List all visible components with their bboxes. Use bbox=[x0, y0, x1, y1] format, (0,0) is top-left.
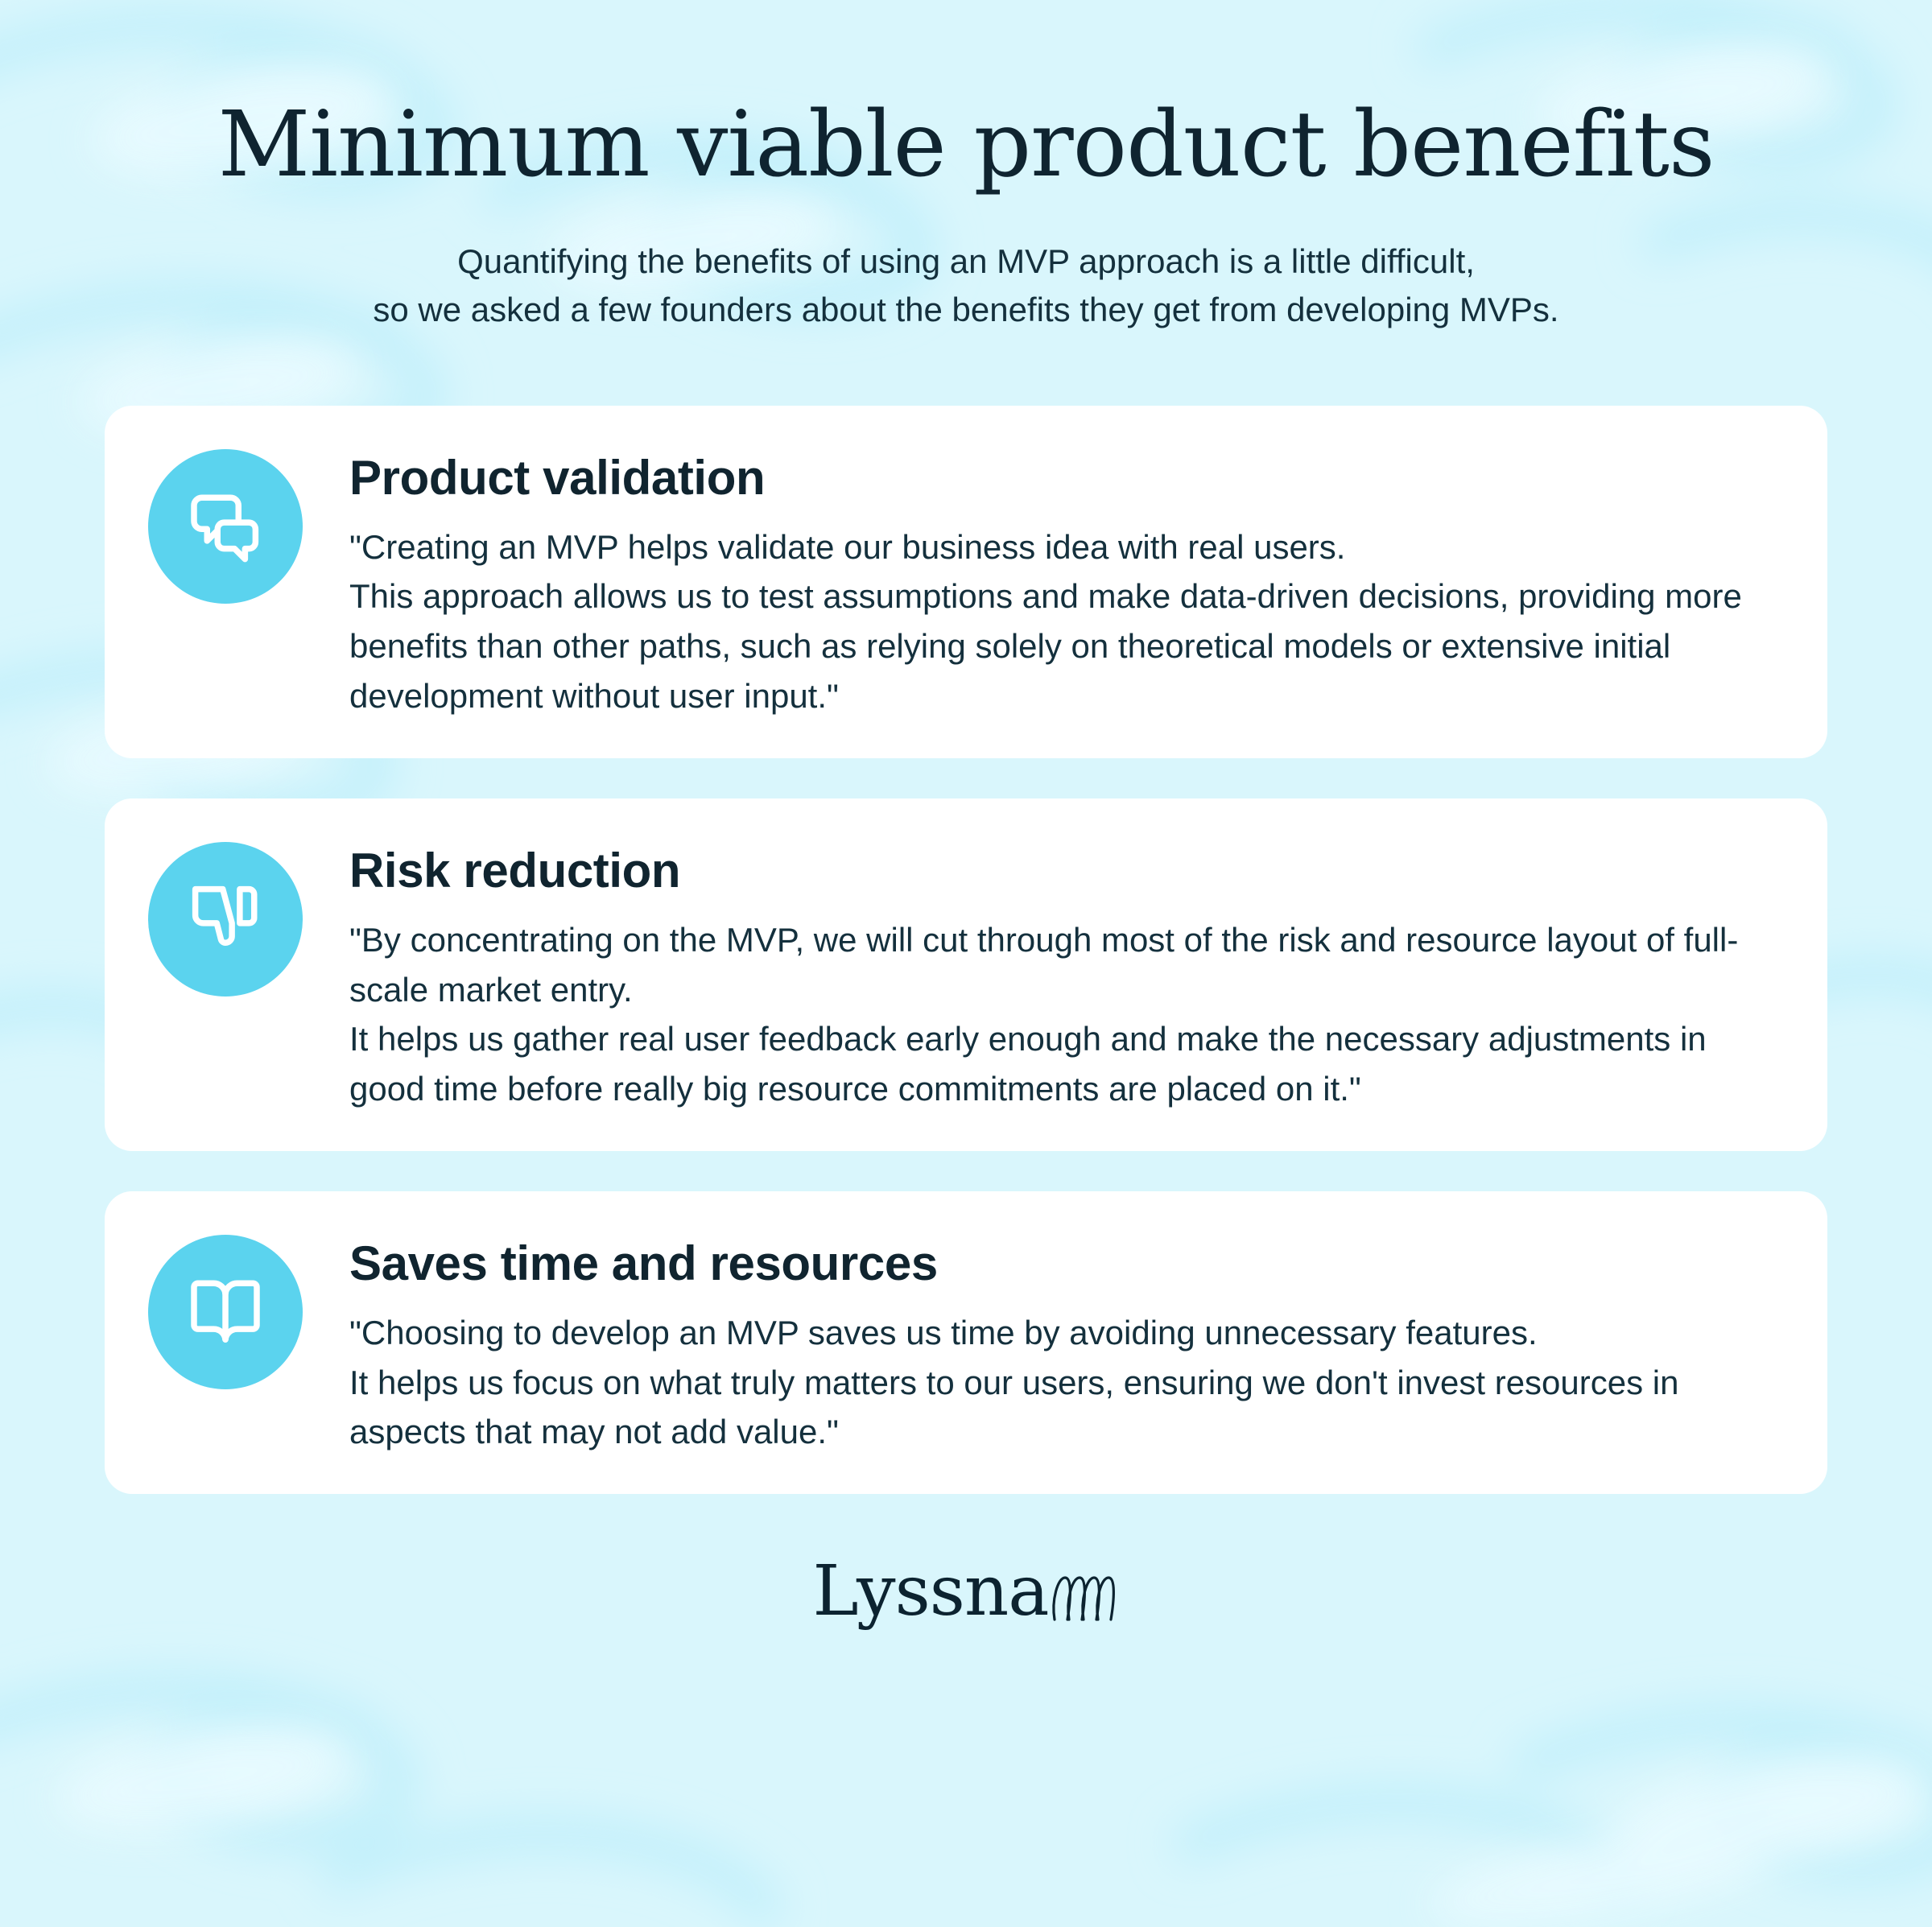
chat-bubbles-icon bbox=[184, 485, 267, 568]
card-body: Saves time and resources "Choosing to de… bbox=[349, 1228, 1777, 1457]
card-heading: Risk reduction bbox=[349, 844, 1777, 897]
card-paragraph: "Choosing to develop an MVP saves us tim… bbox=[349, 1308, 1777, 1358]
benefit-card: Saves time and resources "Choosing to de… bbox=[105, 1191, 1827, 1494]
card-paragraph: This approach allows us to test assumpti… bbox=[349, 571, 1777, 720]
card-paragraph: It helps us gather real user feedback ea… bbox=[349, 1014, 1777, 1113]
footer: Lyssna bbox=[0, 1557, 1932, 1626]
card-paragraph: "By concentrating on the MVP, we will cu… bbox=[349, 915, 1777, 1014]
lyssna-loop-mark-icon bbox=[1051, 1573, 1120, 1623]
card-heading: Saves time and resources bbox=[349, 1236, 1777, 1290]
page-subtitle: Quantifying the benefits of using an MVP… bbox=[0, 237, 1932, 334]
benefit-card: Product validation "Creating an MVP help… bbox=[105, 406, 1827, 758]
card-body: Product validation "Creating an MVP help… bbox=[349, 443, 1777, 721]
icon-circle bbox=[148, 842, 303, 997]
card-text: "Choosing to develop an MVP saves us tim… bbox=[349, 1308, 1777, 1457]
icon-circle bbox=[148, 449, 303, 604]
subtitle-line-1: Quantifying the benefits of using an MVP… bbox=[0, 237, 1932, 286]
lyssna-wordmark: Lyssna bbox=[812, 1557, 1048, 1626]
thumbs-down-icon bbox=[184, 877, 267, 961]
open-book-icon bbox=[184, 1270, 267, 1354]
header: Minimum viable product benefits Quantify… bbox=[0, 0, 1932, 335]
card-text: "Creating an MVP helps validate our busi… bbox=[349, 522, 1777, 721]
infographic-page: Minimum viable product benefits Quantify… bbox=[0, 0, 1932, 1927]
icon-circle bbox=[148, 1235, 303, 1389]
benefit-cards-list: Product validation "Creating an MVP help… bbox=[105, 335, 1827, 1495]
card-heading: Product validation bbox=[349, 451, 1777, 505]
card-body: Risk reduction "By concentrating on the … bbox=[349, 836, 1777, 1114]
card-text: "By concentrating on the MVP, we will cu… bbox=[349, 915, 1777, 1114]
lyssna-logo: Lyssna bbox=[812, 1557, 1119, 1626]
card-paragraph: It helps us focus on what truly matters … bbox=[349, 1358, 1777, 1457]
benefit-card: Risk reduction "By concentrating on the … bbox=[105, 798, 1827, 1151]
subtitle-line-2: so we asked a few founders about the ben… bbox=[0, 286, 1932, 334]
page-title: Minimum viable product benefits bbox=[0, 95, 1932, 196]
card-paragraph: "Creating an MVP helps validate our busi… bbox=[349, 522, 1777, 572]
